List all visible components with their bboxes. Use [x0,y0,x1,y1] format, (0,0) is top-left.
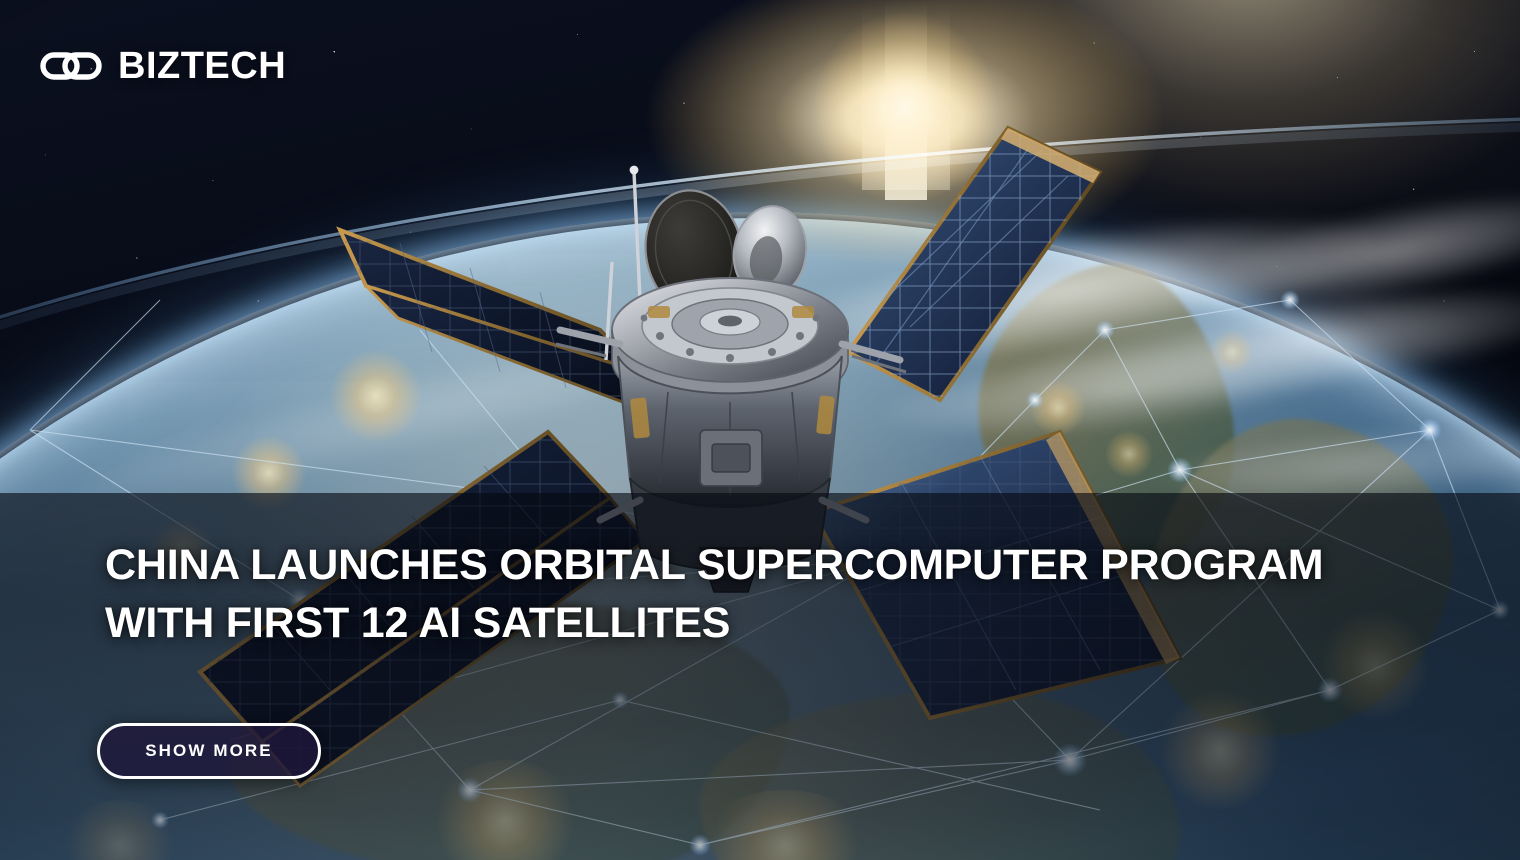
headline-line-1: CHINA LAUNCHES ORBITAL SUPERCOMPUTER PRO… [105,536,1475,594]
chain-links-icon [40,49,102,83]
headline-line-2: WITH FIRST 12 AI SATELLITES [105,594,1475,652]
brand-name: BIZTECH [118,47,286,85]
headline-block: CHINA LAUNCHES ORBITAL SUPERCOMPUTER PRO… [105,536,1475,652]
show-more-button[interactable]: SHOW MORE [97,723,321,779]
show-more-label: SHOW MORE [145,741,273,761]
hero-banner: BIZTECH CHINA LAUNCHES ORBITAL SUPERCOMP… [0,0,1520,860]
brand-logo[interactable]: BIZTECH [40,47,286,85]
